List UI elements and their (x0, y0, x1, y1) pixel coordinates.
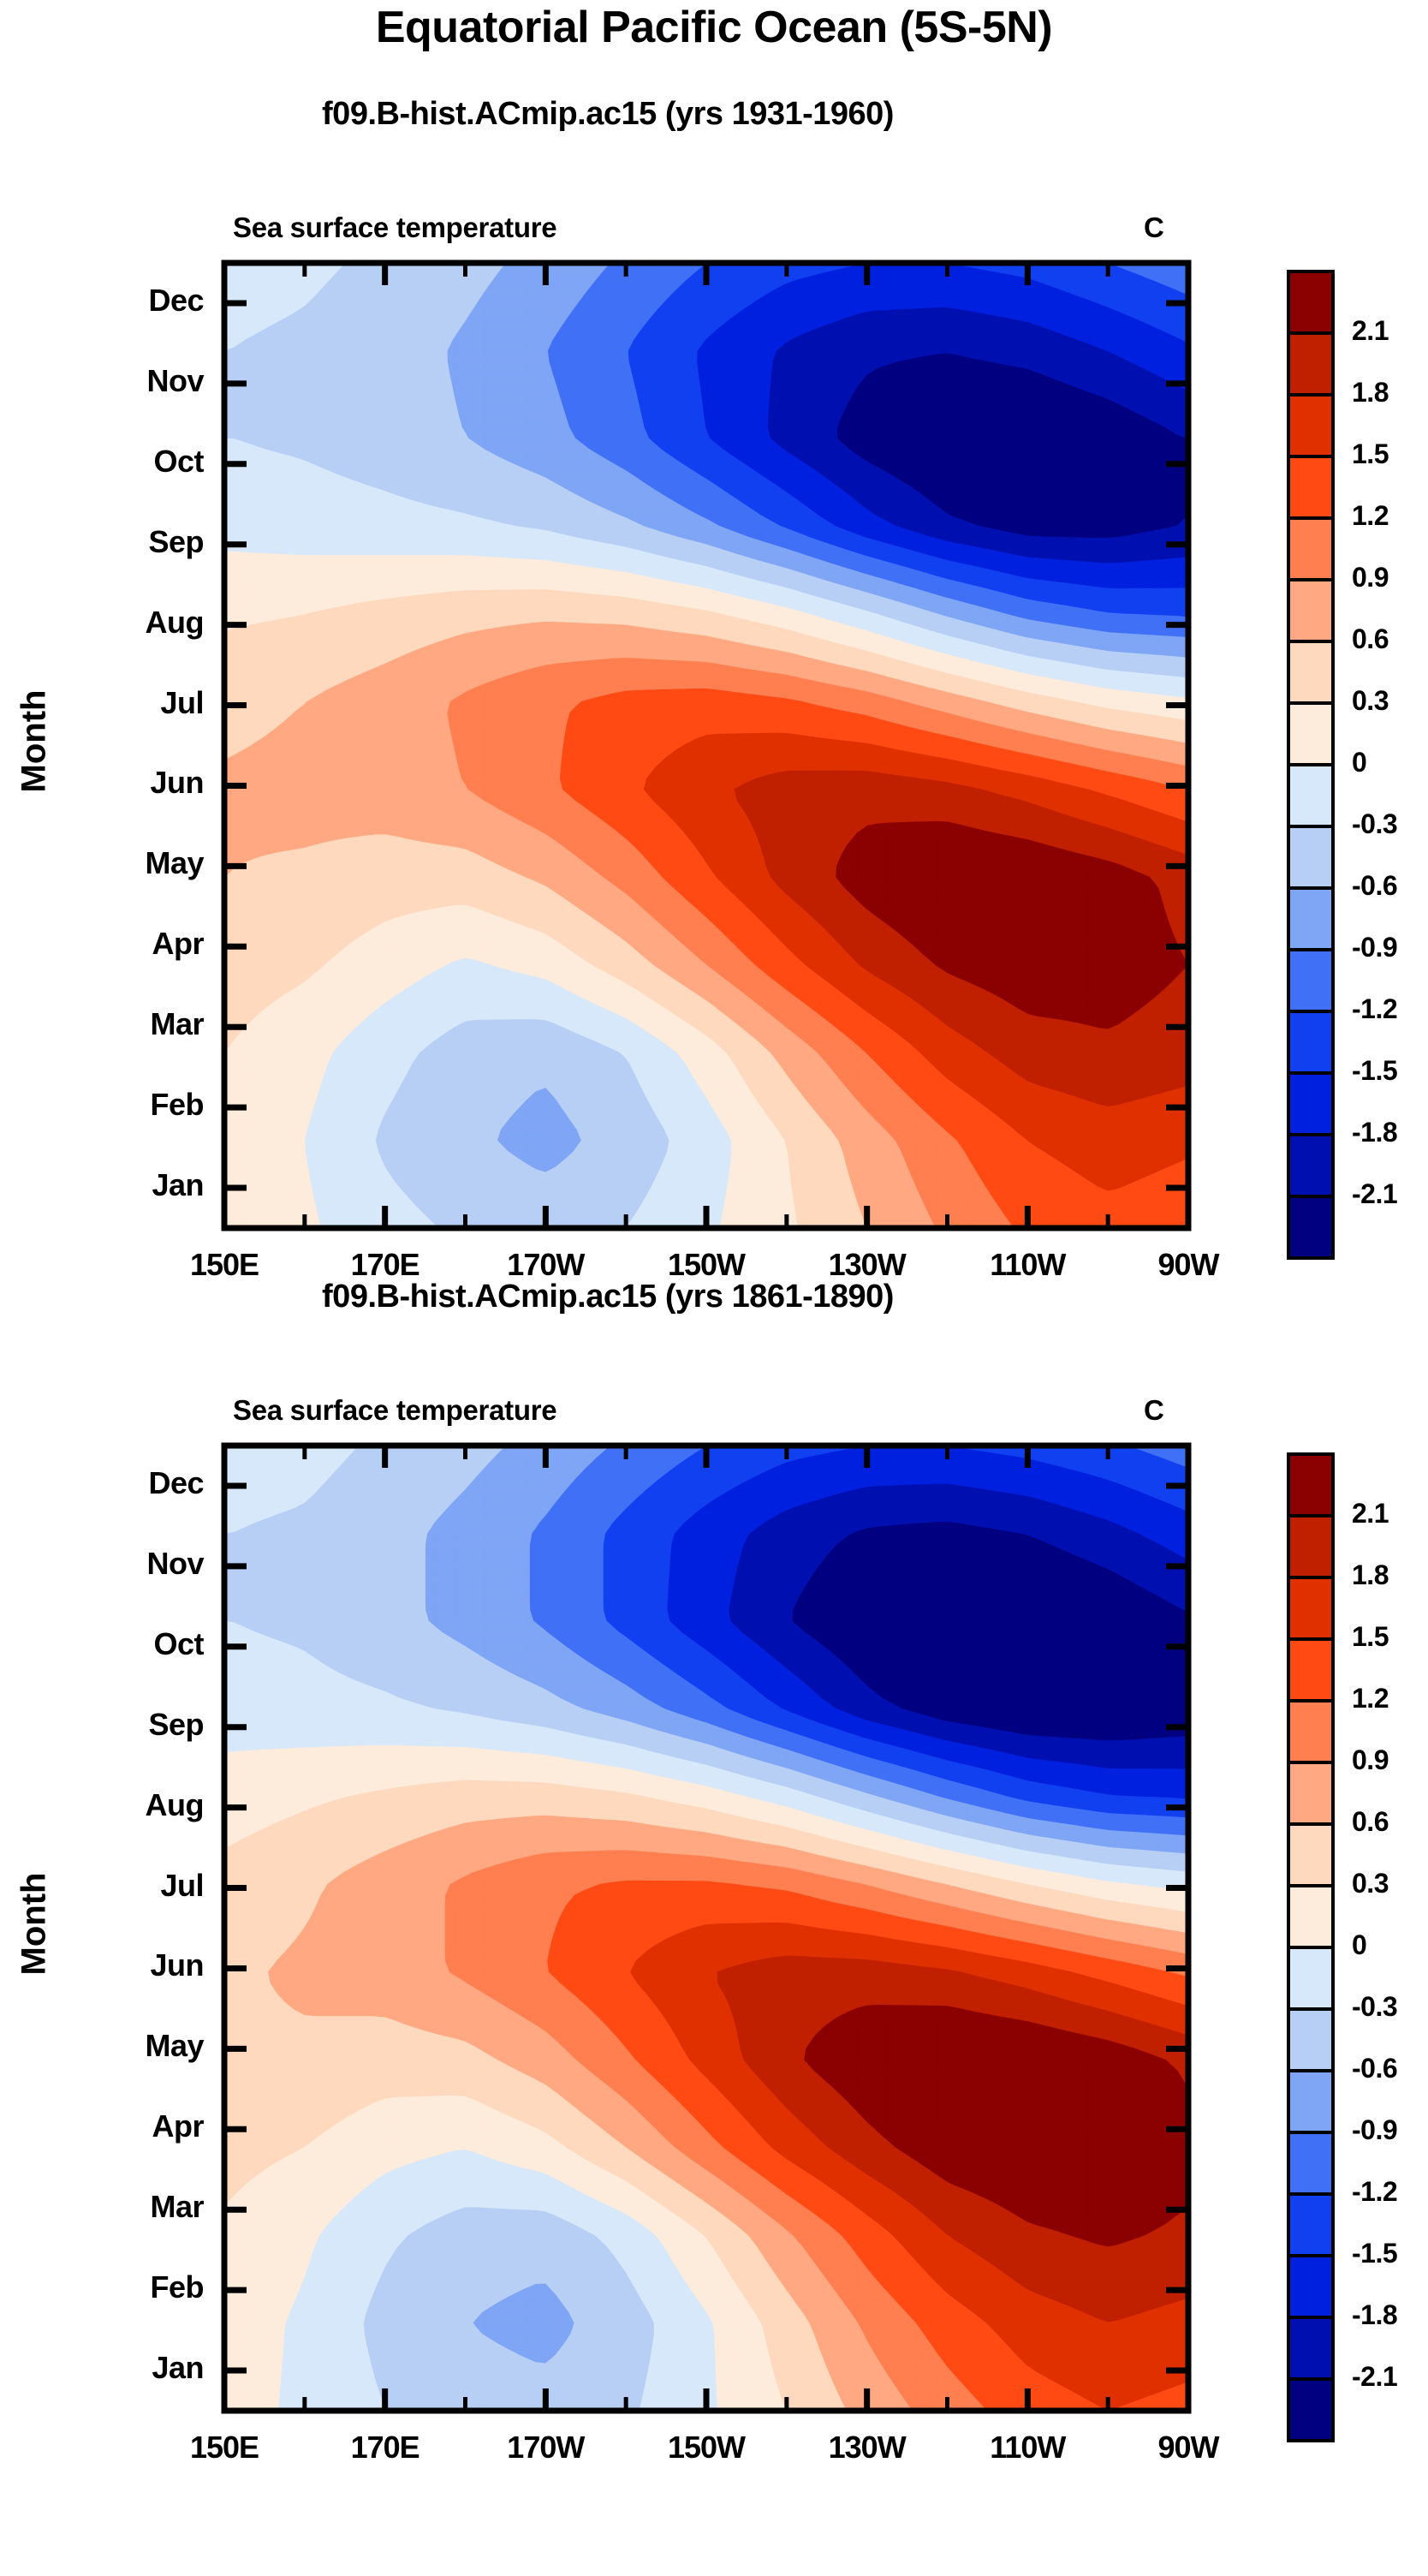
x-axis-tick-110w: 110W (950, 2430, 1104, 2466)
colorbar-tick-label: 0.6 (1352, 1806, 1389, 1838)
colorbar (1285, 1451, 1336, 2444)
y-axis-tick-may: May (17, 2028, 204, 2064)
x-axis-tick-150e: 150E (147, 2430, 301, 2466)
y-axis-tick-nov: Nov (17, 1546, 204, 1582)
colorbar-tick-label: -0.6 (1352, 2053, 1397, 2084)
x-axis-tick-170e: 170E (308, 2430, 462, 2466)
colorbar-tick-label: 0.3 (1352, 1868, 1389, 1899)
x-axis-tick-90w: 90W (1111, 2430, 1265, 2466)
colorbar-tick-label: 0 (1352, 1929, 1366, 1961)
colorbar-tick-label: -1.2 (1352, 2176, 1397, 2208)
colorbar-tick-label: -2.1 (1352, 2361, 1397, 2393)
colorbar-tick-label: 1.8 (1352, 1559, 1389, 1591)
y-axis-tick-jan: Jan (17, 2350, 204, 2386)
figure: Equatorial Pacific Ocean (5S-5N) f09.B-h… (0, 0, 1428, 2576)
colorbar-tick-label: -0.9 (1352, 2114, 1397, 2146)
y-axis-tick-mar: Mar (17, 2189, 204, 2225)
colorbar-tick-label: 2.1 (1352, 1498, 1389, 1529)
y-axis-tick-feb: Feb (17, 2269, 204, 2305)
plot-axes (190, 1411, 1223, 2445)
colorbar-tick-label: 1.5 (1352, 1621, 1389, 1653)
panel-2: f09.B-hist.ACmip.ac15 (yrs 1861-1890)Sea… (0, 0, 1428, 2576)
x-axis-tick-170w: 170W (468, 2430, 622, 2466)
y-axis-tick-apr: Apr (17, 2108, 204, 2144)
colorbar-tick-label: -0.3 (1352, 1991, 1397, 2023)
y-axis-label: Month (15, 1816, 54, 2030)
colorbar-tick-label: 1.2 (1352, 1683, 1389, 1714)
y-axis-tick-sep: Sep (17, 1707, 204, 1743)
y-axis-tick-dec: Dec (17, 1465, 204, 1501)
colorbar-tick-label: -1.5 (1352, 2238, 1397, 2269)
x-axis-tick-150w: 150W (629, 2430, 783, 2466)
colorbar-tick-label: -1.8 (1352, 2299, 1397, 2331)
colorbar-tick-label: 0.9 (1352, 1744, 1389, 1776)
x-axis-tick-130w: 130W (790, 2430, 944, 2466)
panel-subtitle: f09.B-hist.ACmip.ac15 (yrs 1861-1890) (0, 1279, 1216, 1315)
y-axis-tick-oct: Oct (17, 1626, 204, 1662)
